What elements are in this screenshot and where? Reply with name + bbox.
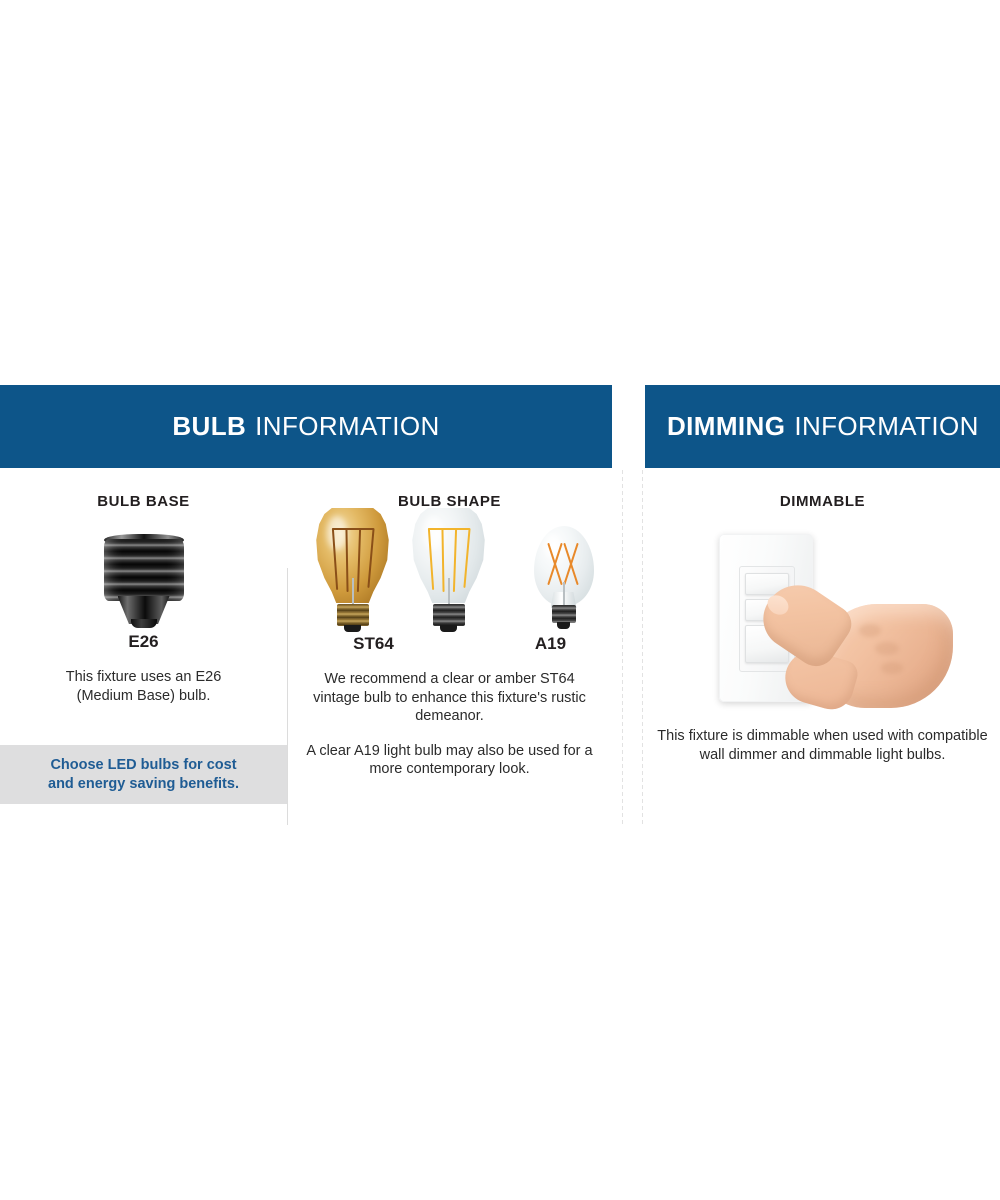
dimming-header-light: INFORMATION	[794, 411, 978, 442]
bulb-shape-paragraph-2: A clear A19 light bulb may also be used …	[287, 742, 612, 779]
page-root: BULB INFORMATION BULB BASE	[0, 0, 1000, 1200]
bulb-shape-column: BULB SHAPE	[287, 468, 612, 779]
bulb-header-strong: BULB	[172, 411, 246, 442]
dimming-header-strong: DIMMING	[667, 411, 785, 442]
bulb-information-header: BULB INFORMATION	[0, 385, 612, 468]
st64-clear-bulb-icon	[412, 508, 486, 632]
bulb-base-description: This fixture uses an E26 (Medium Base) b…	[0, 668, 287, 705]
gutter-dash-right	[642, 470, 643, 825]
e26-caption-row: E26	[0, 632, 287, 652]
bulb-base-description-line2: (Medium Base) bulb.	[77, 688, 211, 704]
st64-amber-bulb-icon	[316, 508, 390, 632]
dimming-information-body: DIMMABLE	[645, 468, 1000, 764]
bulb-base-title: BULB BASE	[0, 468, 287, 510]
e26-base-art-row	[0, 510, 287, 628]
bulb-base-description-line1: This fixture uses an E26	[66, 669, 222, 685]
bulb-base-column: BULB BASE E26 This fixture uses	[0, 468, 287, 779]
bulb-shape-caption-row: ST64 A19	[287, 634, 612, 654]
led-callout-line1: Choose LED bulbs for cost	[50, 756, 236, 775]
bulb-header-light: INFORMATION	[255, 411, 439, 442]
hand-pressing-switch	[763, 580, 951, 715]
e26-screw-base-icon	[98, 533, 190, 628]
dimmer-art-row	[645, 510, 1000, 725]
bulb-shape-title: BULB SHAPE	[287, 468, 612, 510]
bulb-columns: BULB BASE E26 This fixture uses	[0, 468, 612, 779]
wall-dimmer-switch-icon	[701, 528, 951, 725]
dimming-information-header: DIMMING INFORMATION	[645, 385, 1000, 468]
bulb-information-panel: BULB INFORMATION BULB BASE	[0, 385, 612, 779]
st64-caption: ST64	[313, 634, 435, 654]
dimmable-title: DIMMABLE	[645, 468, 1000, 510]
a19-caption: A19	[505, 634, 597, 654]
st64-clear-caption	[435, 634, 505, 654]
a19-clear-bulb-icon	[534, 526, 594, 632]
led-callout-line2: and energy saving benefits.	[48, 775, 239, 794]
bulb-shape-art-row	[287, 510, 612, 632]
e26-caption: E26	[128, 632, 158, 652]
dimming-paragraph: This fixture is dimmable when used with …	[645, 727, 1000, 764]
bulb-shape-paragraph-1: We recommend a clear or amber ST64 vinta…	[287, 670, 612, 726]
dimming-information-panel: DIMMING INFORMATION DIMMABLE	[645, 385, 1000, 764]
led-callout-box: Choose LED bulbs for cost and energy sav…	[0, 745, 287, 804]
gutter-dash-left	[622, 470, 623, 825]
bulb-information-body: BULB BASE E26 This fixture uses	[0, 468, 612, 779]
